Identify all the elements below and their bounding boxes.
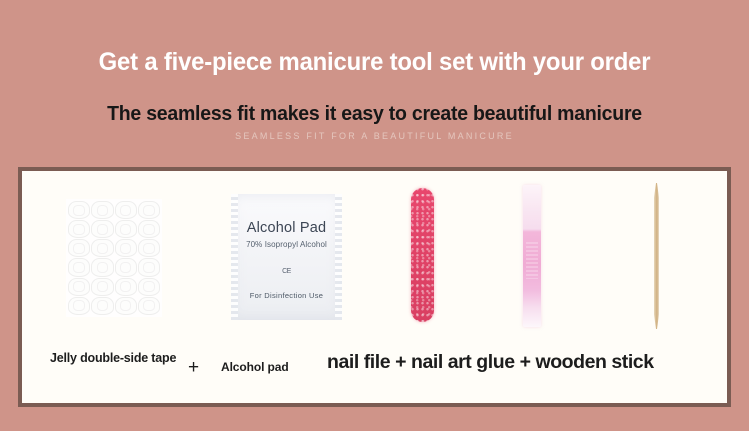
jelly-tab xyxy=(115,258,137,276)
jelly-tab xyxy=(68,220,90,238)
jelly-tab xyxy=(68,297,90,315)
product-panel: Alcohol Pad 70% Isopropyl Alcohol CE For… xyxy=(18,167,731,407)
nail-art-glue-image xyxy=(523,185,541,327)
jelly-tab xyxy=(91,220,113,238)
jelly-tab xyxy=(138,278,160,296)
product-label-row: Jelly double-side tape + Alcohol pad nai… xyxy=(22,346,727,401)
packet-subtitle: 70% Isopropyl Alcohol xyxy=(231,240,342,249)
product-strip: Alcohol Pad 70% Isopropyl Alcohol CE For… xyxy=(22,177,727,337)
jelly-tape-sheet-image xyxy=(66,199,162,317)
jelly-tab xyxy=(115,278,137,296)
jelly-tab xyxy=(68,239,90,257)
nail-file-image xyxy=(411,188,434,322)
jelly-tab xyxy=(115,239,137,257)
headline: Get a five-piece manicure tool set with … xyxy=(17,49,732,75)
jelly-tab xyxy=(115,201,137,219)
jelly-tab xyxy=(91,278,113,296)
tagline: SEAMLESS FIT FOR A BEAUTIFUL MANICURE xyxy=(0,132,749,141)
product-item-jelly-tape xyxy=(50,177,176,337)
packet-serrated-edge-right xyxy=(335,194,342,320)
jelly-tab xyxy=(68,258,90,276)
product-item-nail-art-glue xyxy=(500,177,566,337)
label-jelly-tape: Jelly double-side tape xyxy=(50,350,180,367)
jelly-tab xyxy=(91,201,113,219)
packet-serrated-edge-left xyxy=(231,194,238,320)
label-alcohol-pad: Alcohol pad xyxy=(221,360,289,374)
product-item-alcohol-pad: Alcohol Pad 70% Isopropyl Alcohol CE For… xyxy=(212,177,362,337)
jelly-tab xyxy=(115,297,137,315)
jelly-tab xyxy=(68,278,90,296)
promo-banner: Get a five-piece manicure tool set with … xyxy=(0,0,749,431)
jelly-tab xyxy=(91,239,113,257)
jelly-tab xyxy=(91,297,113,315)
label-plus-separator: + xyxy=(188,357,199,379)
packet-ce-mark: CE xyxy=(231,268,342,275)
jelly-tab xyxy=(115,220,137,238)
jelly-tab xyxy=(138,220,160,238)
product-item-wooden-stick xyxy=(624,177,690,337)
alcohol-pad-packet-image: Alcohol Pad 70% Isopropyl Alcohol CE For… xyxy=(231,194,342,320)
packet-usage-text: For Disinfection Use xyxy=(231,291,342,300)
jelly-tab xyxy=(138,201,160,219)
jelly-tab xyxy=(138,297,160,315)
product-panel-inner: Alcohol Pad 70% Isopropyl Alcohol CE For… xyxy=(22,171,727,403)
packet-title: Alcohol Pad xyxy=(231,220,342,236)
wooden-stick-image xyxy=(654,183,659,329)
product-item-nail-file xyxy=(390,177,456,337)
jelly-tab xyxy=(138,239,160,257)
jelly-tab xyxy=(91,258,113,276)
jelly-tab xyxy=(68,201,90,219)
label-remaining-tools: nail file + nail art glue + wooden stick xyxy=(327,351,654,374)
jelly-tab xyxy=(138,258,160,276)
subheadline: The seamless fit makes it easy to create… xyxy=(19,103,731,125)
